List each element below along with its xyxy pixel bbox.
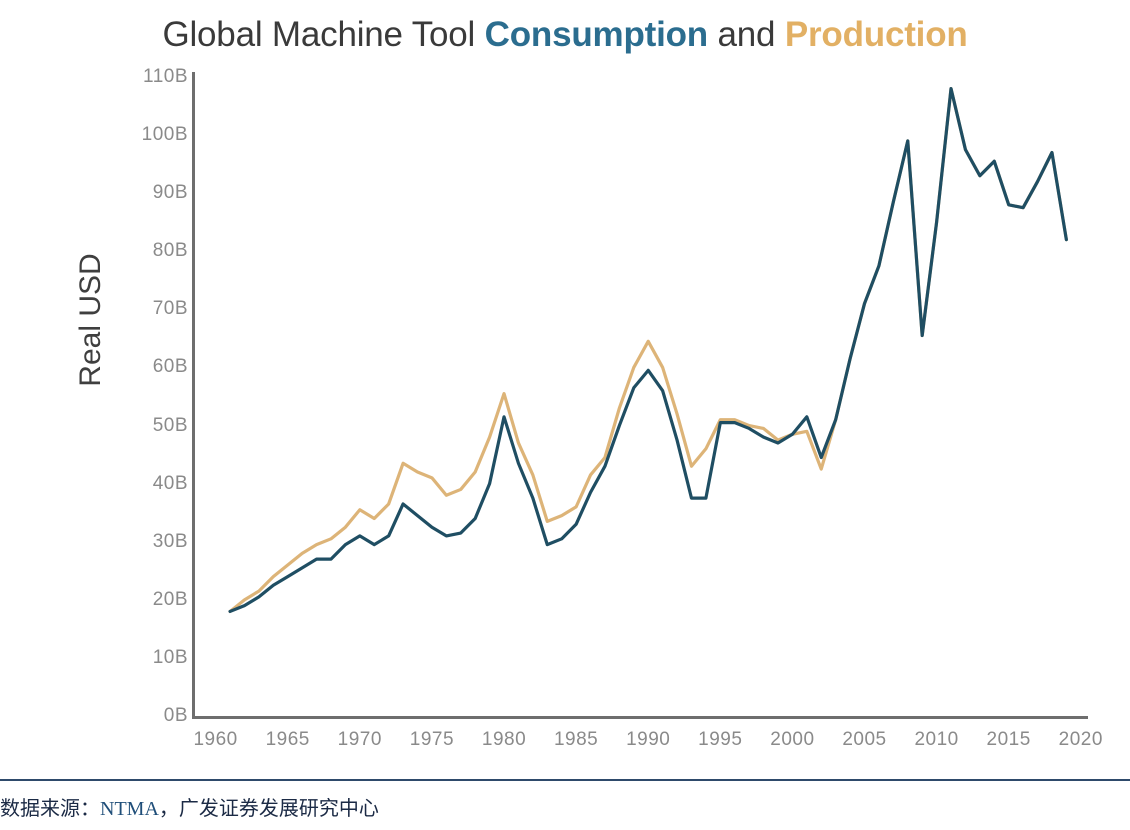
- footer-divider: [0, 779, 1130, 781]
- y-tick-label: 100B: [108, 124, 188, 146]
- y-tick-label: 80B: [108, 240, 188, 262]
- x-tick-label: 1975: [397, 729, 467, 751]
- y-tick-label: 20B: [108, 589, 188, 611]
- x-tick-label: 1970: [325, 729, 395, 751]
- x-tick-label: 1990: [613, 729, 683, 751]
- x-tick-label: 2020: [1046, 729, 1116, 751]
- x-tick-label: 2010: [902, 729, 972, 751]
- series-svg: [194, 77, 1088, 716]
- y-tick-label: 10B: [108, 647, 188, 669]
- y-tick-label: 30B: [108, 531, 188, 553]
- y-tick-label: 0B: [108, 705, 188, 727]
- y-tick-label: 90B: [108, 182, 188, 204]
- x-tick-label: 2005: [830, 729, 900, 751]
- x-tick-label: 2000: [757, 729, 827, 751]
- source-suffix: ，广发证券发展研究中心: [159, 798, 379, 820]
- y-tick-label: 60B: [108, 356, 188, 378]
- source-link: NTMA: [100, 798, 159, 820]
- y-tick-label: 40B: [108, 473, 188, 495]
- y-tick-label: 50B: [108, 415, 188, 437]
- y-axis-ticks: 0B10B20B30B40B50B60B70B80B90B100B110B: [104, 0, 188, 775]
- y-tick-label: 70B: [108, 298, 188, 320]
- y-axis-label: Real USD: [74, 220, 108, 420]
- x-tick-label: 1985: [541, 729, 611, 751]
- plot-area: [194, 77, 1088, 716]
- title-production: Production: [785, 15, 968, 54]
- x-tick-label: 1965: [253, 729, 323, 751]
- y-tick-label: 110B: [108, 66, 188, 88]
- series-line-consumption: [230, 89, 1066, 612]
- series-line-production: [230, 89, 1066, 612]
- title-consumption: Consumption: [485, 15, 708, 54]
- x-tick-label: 2015: [974, 729, 1044, 751]
- x-tick-label: 1960: [181, 729, 251, 751]
- source-note: 数据来源：NTMA，广发证券发展研究中心: [0, 792, 1130, 821]
- x-axis-line: [192, 716, 1088, 719]
- x-tick-label: 1995: [685, 729, 755, 751]
- title-conjunction: and: [708, 15, 785, 54]
- source-prefix: 数据来源：: [0, 798, 100, 820]
- title-prefix: Global Machine Tool: [162, 15, 484, 54]
- x-tick-label: 1980: [469, 729, 539, 751]
- x-axis-ticks: 1960196519701975198019851990199520002005…: [0, 729, 1130, 757]
- chart-figure: Global Machine Tool Consumption and Prod…: [0, 0, 1130, 775]
